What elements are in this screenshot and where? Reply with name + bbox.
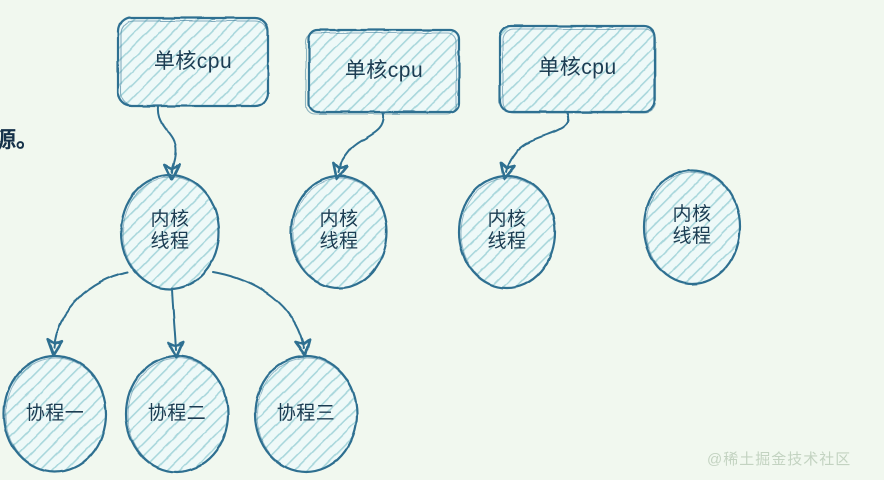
edge-cpu2-to-kthread2 [338, 112, 384, 172]
edge-kthread1-to-coroutine2 [172, 288, 176, 350]
edge-kthread1-to-coroutine1 [54, 272, 128, 348]
kernel-thread-node-1[interactable] [121, 175, 219, 289]
watermark: @稀土掘金技术社区 [707, 448, 851, 469]
diagram-canvas: 单核cpu 单核cpu 单核cpu 内核 线程 内核 线程 内核 线程 内核 线… [0, 0, 884, 480]
coroutine-node-1[interactable] [4, 356, 106, 472]
coroutine-node-2[interactable] [126, 356, 228, 472]
edge-cpu3-to-kthread3 [506, 112, 569, 172]
cpu-node-2[interactable] [306, 30, 459, 114]
diagram-svg [0, 0, 884, 480]
kernel-thread-node-4[interactable] [644, 170, 740, 284]
cpu-node-1[interactable] [118, 18, 268, 106]
coroutine-node-3[interactable] [255, 356, 357, 472]
edge-kthread1-to-coroutine3 [213, 272, 304, 348]
side-body-text: 源。 [0, 122, 38, 154]
edge-cpu1-to-kthread1 [158, 106, 176, 172]
kernel-thread-node-3[interactable] [459, 176, 555, 288]
cpu-node-3[interactable] [500, 26, 656, 113]
kernel-thread-node-2[interactable] [291, 176, 387, 288]
